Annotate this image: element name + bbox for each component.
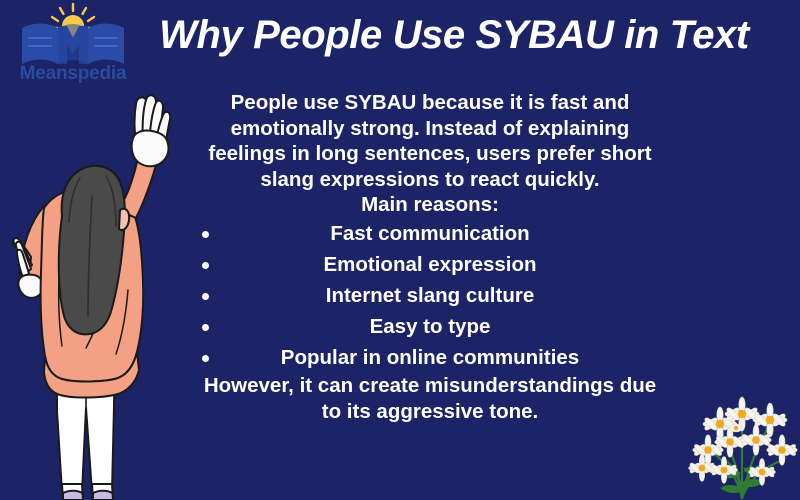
woman-from-behind-arms-raised-illustration <box>0 86 185 500</box>
page-title: Why People Use SYBAU in Text <box>118 12 790 58</box>
outro-line: However, it can create misunderstandings… <box>168 373 692 399</box>
intro-line: People use SYBAU because it is fast and <box>168 90 692 116</box>
list-item: Fast communication <box>168 218 692 249</box>
daisy-bouquet-illustration <box>684 384 800 500</box>
article-body: People use SYBAU because it is fast and … <box>168 90 692 425</box>
brand-logo: Meanspedia <box>14 2 132 94</box>
list-item: Popular in online communities <box>168 342 692 373</box>
poster-canvas: Meanspedia Why People Use SYBAU in Text … <box>0 0 800 500</box>
list-item: Emotional expression <box>168 249 692 280</box>
list-item: Easy to type <box>168 311 692 342</box>
intro-paragraph: People use SYBAU because it is fast and … <box>168 90 692 192</box>
intro-line: emotionally strong. Instead of explainin… <box>168 116 692 142</box>
reasons-list: Fast communication Emotional expression … <box>168 218 692 373</box>
list-item: Internet slang culture <box>168 280 692 311</box>
intro-line: feelings in long sentences, users prefer… <box>168 141 692 167</box>
intro-line: slang expressions to react quickly. <box>168 167 692 193</box>
outro-paragraph: However, it can create misunderstandings… <box>168 373 692 425</box>
open-book-with-lightbulb-icon <box>14 2 132 72</box>
reasons-heading: Main reasons: <box>168 192 692 218</box>
outro-line: to its aggressive tone. <box>168 399 692 425</box>
brand-name: Meanspedia <box>14 64 132 83</box>
